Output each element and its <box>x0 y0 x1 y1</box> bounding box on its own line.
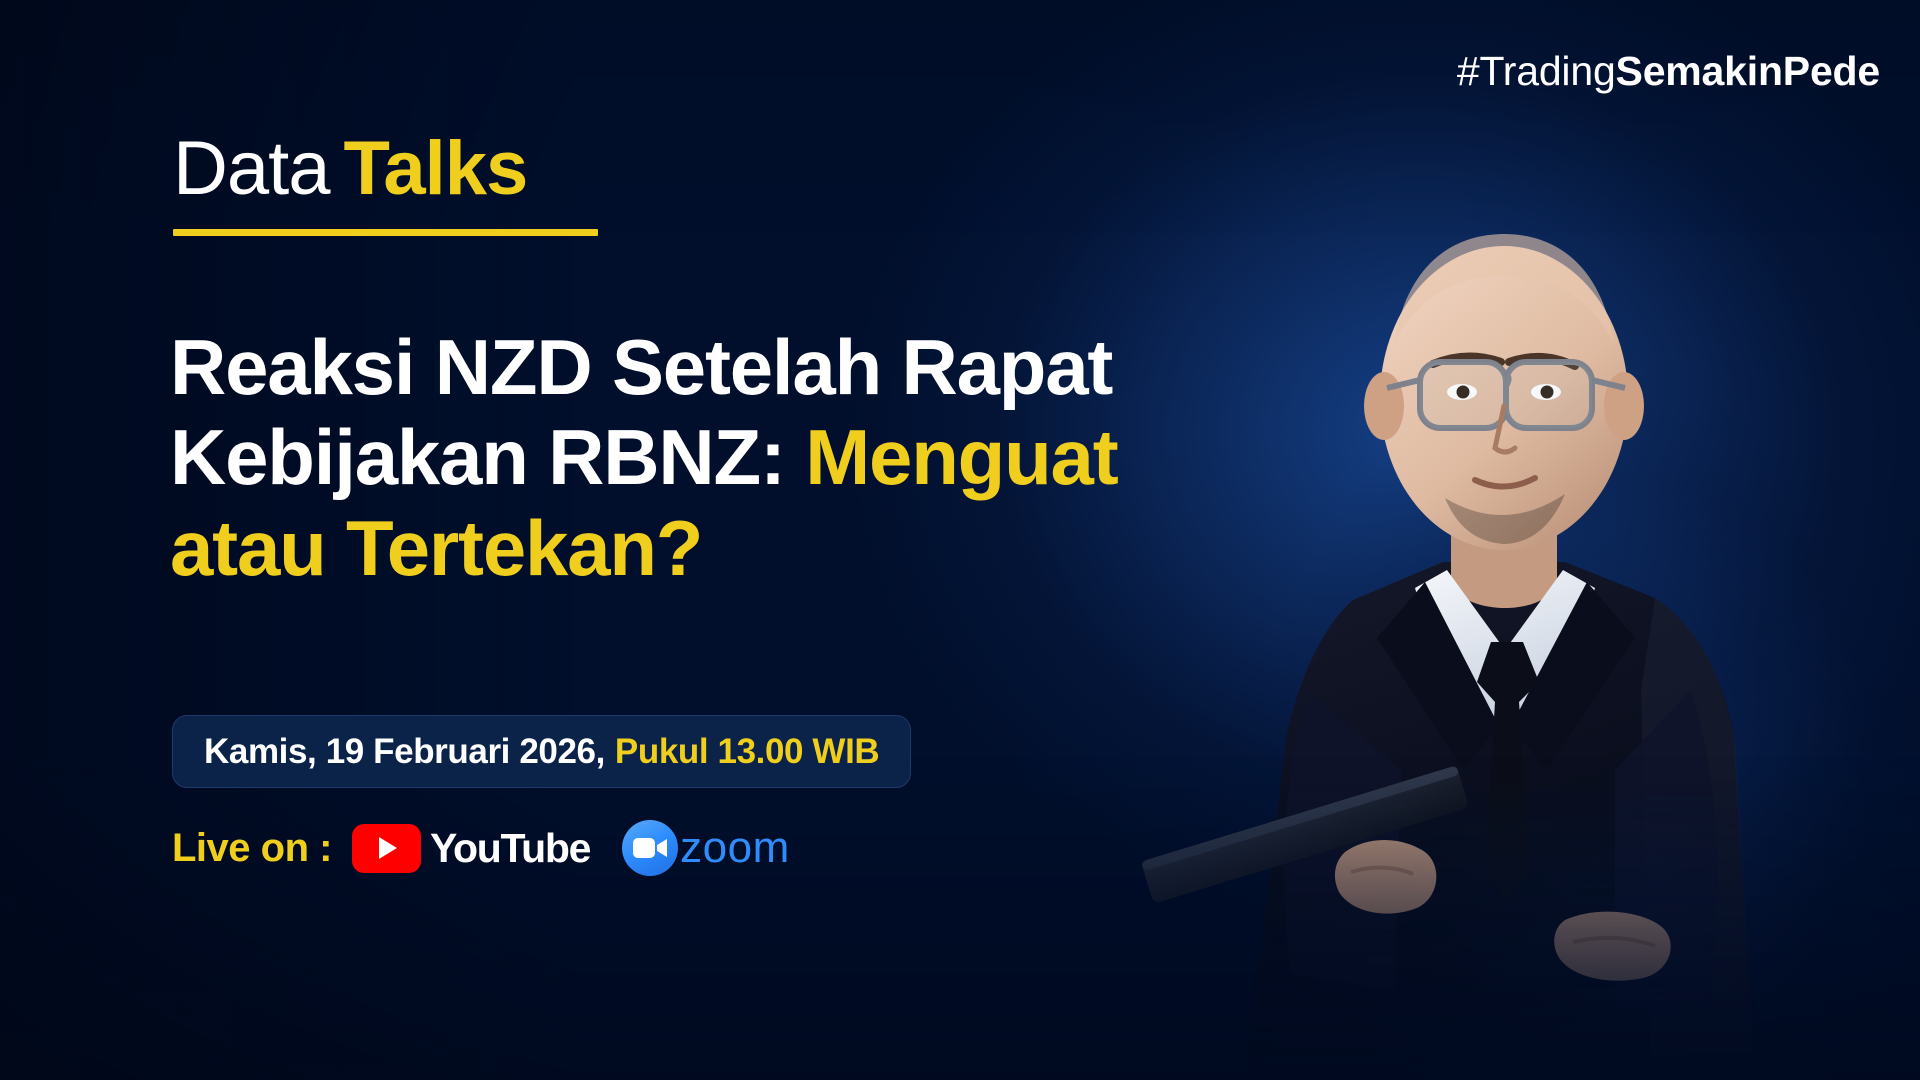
hashtag-light-part: #Trading <box>1457 48 1616 94</box>
campaign-hashtag: #TradingSemakinPede <box>1457 48 1880 95</box>
youtube-logo[interactable]: YouTube <box>352 824 590 873</box>
brand-word-data: Data <box>173 126 330 211</box>
headline-line-2: Kebijakan RBNZ: Menguat <box>170 412 1240 502</box>
show-brand: DataTalks <box>173 131 598 236</box>
play-triangle-icon <box>379 837 397 859</box>
youtube-play-icon <box>352 824 421 873</box>
schedule-time: Pukul 13.00 WIB <box>615 732 879 772</box>
headline-line-1-text: Reaksi NZD Setelah Rapat <box>170 323 1112 411</box>
headline-line-3-accent: atau Tertekan? <box>170 504 702 592</box>
schedule-badge: Kamis, 19 Februari 2026, Pukul 13.00 WIB <box>172 715 911 788</box>
headline-line-1: Reaksi NZD Setelah Rapat <box>170 322 1240 412</box>
live-platforms-row: Live on : YouTube zoom <box>172 815 790 881</box>
headline-line-3: atau Tertekan? <box>170 503 1240 593</box>
brand-title-row: DataTalks <box>173 131 598 207</box>
brand-word-talks: Talks <box>344 126 528 211</box>
zoom-camera-icon <box>622 820 678 876</box>
live-on-label: Live on : <box>172 826 332 871</box>
zoom-logo[interactable]: zoom <box>622 820 790 876</box>
brand-underline-rule <box>173 229 598 236</box>
webinar-promo-banner: #TradingSemakinPede DataTalks Reaksi NZD… <box>0 0 1920 1080</box>
headline-line-2-accent: Menguat <box>805 413 1117 501</box>
headline-line-2-text: Kebijakan RBNZ: <box>170 413 785 501</box>
hashtag-bold-part: SemakinPede <box>1616 48 1880 94</box>
zoom-wordmark: zoom <box>680 823 790 873</box>
youtube-wordmark: YouTube <box>430 825 590 872</box>
page-title: Reaksi NZD Setelah Rapat Kebijakan RBNZ:… <box>170 322 1240 593</box>
schedule-date: Kamis, 19 Februari 2026, <box>204 732 605 772</box>
